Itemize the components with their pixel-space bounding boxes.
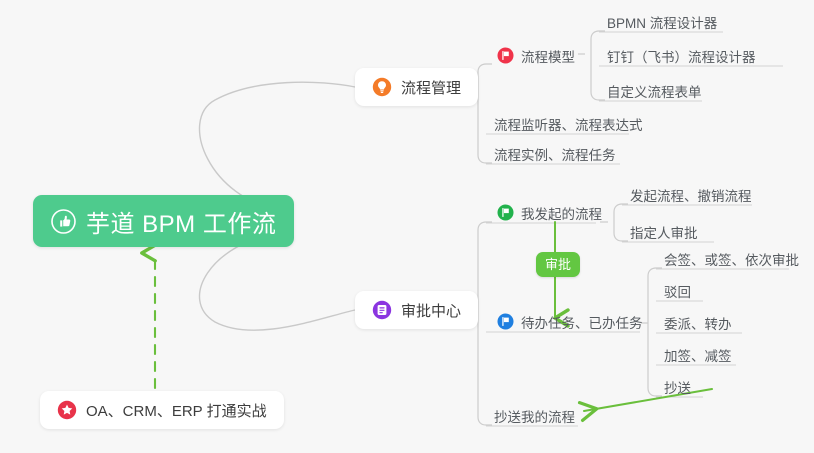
node-label: BPMN 流程设计器 bbox=[607, 17, 717, 31]
node-reject[interactable]: 驳回 bbox=[657, 275, 698, 302]
node-countersign[interactable]: 会签、或签、依次审批 bbox=[657, 243, 806, 270]
node-label: 钉钉（飞书）流程设计器 bbox=[607, 51, 756, 65]
node-start-cancel-flow[interactable]: 发起流程、撤销流程 bbox=[623, 179, 759, 206]
node-label: 流程管理 bbox=[401, 77, 461, 98]
node-label: 委派、转办 bbox=[664, 318, 732, 332]
node-label: 驳回 bbox=[664, 286, 691, 300]
node-label: 流程实例、流程任务 bbox=[494, 149, 616, 163]
node-listener-expression[interactable]: 流程监听器、流程表达式 bbox=[487, 108, 650, 135]
node-approval-center[interactable]: 审批中心 bbox=[355, 291, 478, 329]
node-process-management[interactable]: 流程管理 bbox=[355, 68, 478, 106]
node-assignee-approval[interactable]: 指定人审批 bbox=[623, 216, 705, 243]
node-add-remove-sign[interactable]: 加签、减签 bbox=[657, 339, 739, 366]
flag-icon bbox=[497, 47, 514, 64]
node-label: 抄送我的流程 bbox=[494, 411, 575, 425]
node-instance-task[interactable]: 流程实例、流程任务 bbox=[487, 138, 623, 165]
node-label: 会签、或签、依次审批 bbox=[664, 254, 799, 268]
node-my-initiated-flow[interactable]: 我发起的流程 bbox=[490, 197, 609, 224]
node-todo-done-tasks[interactable]: 待办任务、已办任务 bbox=[490, 306, 650, 333]
lightbulb-icon bbox=[372, 77, 392, 97]
node-cc-to-me-flow[interactable]: 抄送我的流程 bbox=[487, 400, 582, 427]
approval-badge[interactable]: 审批 bbox=[536, 252, 580, 277]
node-label: 发起流程、撤销流程 bbox=[630, 190, 752, 204]
node-dingtalk-designer[interactable]: 钉钉（飞书）流程设计器 bbox=[600, 40, 763, 67]
node-label: 流程模型 bbox=[521, 51, 575, 65]
node-label: OA、CRM、ERP 打通实战 bbox=[86, 400, 267, 421]
clipboard-icon bbox=[372, 300, 392, 320]
node-label: 待办任务、已办任务 bbox=[521, 317, 643, 331]
node-label: 我发起的流程 bbox=[521, 208, 602, 222]
node-label: 指定人审批 bbox=[630, 227, 698, 241]
node-process-model[interactable]: 流程模型 bbox=[490, 40, 582, 67]
node-oa-crm-erp[interactable]: OA、CRM、ERP 打通实战 bbox=[40, 391, 284, 429]
node-label: 审批中心 bbox=[401, 300, 461, 321]
node-label: 流程监听器、流程表达式 bbox=[494, 119, 643, 133]
node-delegate-transfer[interactable]: 委派、转办 bbox=[657, 307, 739, 334]
node-label: 抄送 bbox=[664, 382, 691, 396]
node-bpmn-designer[interactable]: BPMN 流程设计器 bbox=[600, 6, 724, 33]
approval-badge-label: 审批 bbox=[545, 257, 571, 272]
node-cc[interactable]: 抄送 bbox=[657, 371, 698, 398]
root-label: 芋道 BPM 工作流 bbox=[86, 204, 276, 239]
node-label: 加签、减签 bbox=[664, 350, 732, 364]
thumbs-up-icon bbox=[51, 209, 76, 234]
root-node[interactable]: 芋道 BPM 工作流 bbox=[33, 195, 294, 247]
flag-icon bbox=[497, 313, 514, 330]
flag-icon bbox=[497, 204, 514, 221]
link-root-to-process-management bbox=[200, 82, 355, 210]
star-icon bbox=[57, 400, 77, 420]
mindmap-canvas: 芋道 BPM 工作流 流程管理 流程模型 BPMN 流程设计器 钉钉（飞书）流程 bbox=[0, 0, 814, 453]
node-custom-form[interactable]: 自定义流程表单 bbox=[600, 75, 709, 102]
node-label: 自定义流程表单 bbox=[607, 86, 702, 100]
